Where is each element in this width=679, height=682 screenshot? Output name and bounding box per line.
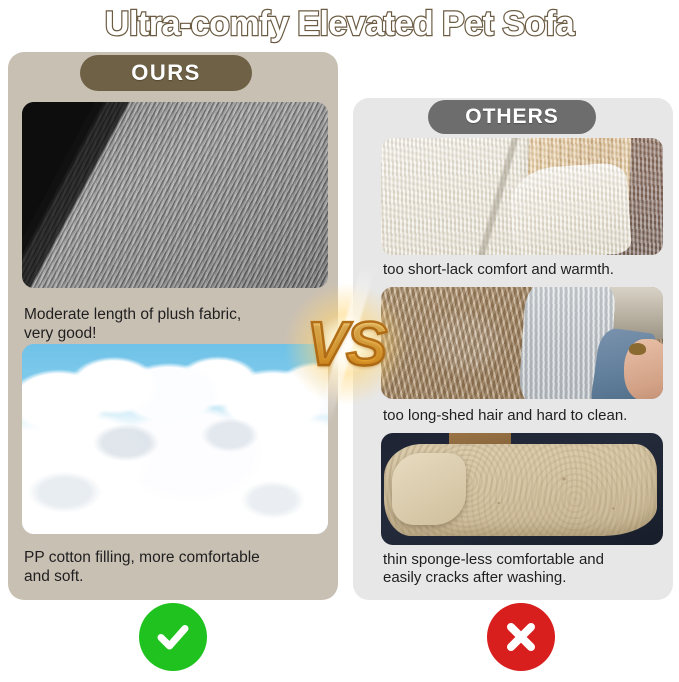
others-caption-3: thin sponge-less comfortable and easily … — [383, 551, 673, 587]
ours-badge: OURS — [80, 55, 252, 91]
others-caption-2: too long-shed hair and hard to clean. — [383, 406, 673, 425]
cotton-shadow-layer — [22, 344, 328, 534]
short-fur-wooden-leg-photo — [381, 138, 663, 255]
others-badge: OTHERS — [428, 100, 596, 134]
ours-caption-2: PP cotton filling, more comfortable and … — [24, 548, 324, 586]
sponge-crumble-layer — [392, 453, 465, 525]
long-shed-hair-photo — [381, 287, 663, 399]
ours-caption-1: Moderate length of plush fabric, very go… — [24, 305, 324, 343]
seam-line-layer — [381, 138, 663, 255]
fingernail-layer — [629, 343, 646, 355]
others-caption-1: too short-lack comfort and warmth. — [383, 260, 673, 279]
grey-plush-fabric-photo — [22, 102, 328, 288]
check-circle-icon — [139, 603, 207, 671]
thin-sponge-cracked-photo — [381, 433, 663, 545]
x-circle-icon — [487, 603, 555, 671]
pp-cotton-filling-photo — [22, 344, 328, 534]
fur-dark-band-layer — [22, 102, 328, 288]
page-title: Ultra-comfy Elevated Pet Sofa — [0, 2, 679, 46]
